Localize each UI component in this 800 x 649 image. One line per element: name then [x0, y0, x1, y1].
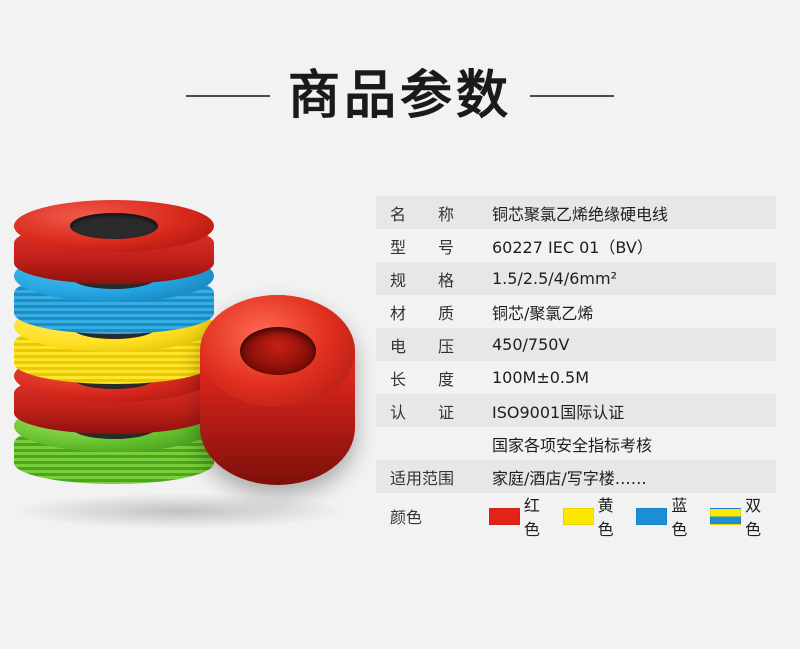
- spec-label: 长 度: [376, 366, 492, 390]
- spec-value: ISO9001国际认证: [492, 399, 776, 423]
- coil-red-top: [14, 200, 214, 286]
- swatch-item-red: 红色: [489, 492, 555, 540]
- coil-front-red: [200, 295, 360, 505]
- color-swatches: 红色 黄色 蓝色 双色: [489, 492, 776, 540]
- coil-stack: [14, 200, 224, 490]
- page-root: 商品参数: [0, 0, 800, 649]
- swatch-label: 红色: [524, 492, 555, 540]
- table-row: 名 称 铜芯聚氯乙烯绝缘硬电线: [376, 196, 776, 229]
- spec-value: 450/750V: [492, 335, 776, 354]
- swatch-item-dual: 双色: [710, 492, 776, 540]
- spec-label: 适用范围: [376, 465, 492, 489]
- spec-label: 认 证: [376, 399, 492, 423]
- photo-shadow: [10, 493, 350, 529]
- red-swatch-icon: [489, 508, 520, 525]
- table-row: 认 证 ISO9001国际认证: [376, 394, 776, 427]
- page-title: 商品参数: [288, 70, 512, 122]
- dual-swatch-icon: [710, 508, 741, 525]
- product-photo: [0, 175, 360, 575]
- spec-table: 名 称 铜芯聚氯乙烯绝缘硬电线 型 号 60227 IEC 01（BV） 规 格…: [376, 196, 776, 535]
- spec-value: 100M±0.5M: [492, 368, 776, 387]
- table-row: 长 度 100M±0.5M: [376, 361, 776, 394]
- spec-value: 国家各项安全指标考核: [492, 432, 776, 456]
- title-rule-left: [186, 95, 270, 97]
- yellow-swatch-icon: [563, 508, 594, 525]
- table-row: 国家各项安全指标考核: [376, 427, 776, 460]
- table-row: 电 压 450/750V: [376, 328, 776, 361]
- spec-label: 名 称: [376, 201, 492, 225]
- swatch-item-yellow: 黄色: [563, 492, 629, 540]
- title-rule-right: [530, 95, 614, 97]
- swatch-label: 黄色: [598, 492, 629, 540]
- table-row: 规 格 1.5/2.5/4/6mm²: [376, 262, 776, 295]
- spec-value: 铜芯聚氯乙烯绝缘硬电线: [492, 201, 776, 225]
- spec-label: 型 号: [376, 234, 492, 258]
- spec-label: 电 压: [376, 333, 492, 357]
- color-legend-row: 颜色 红色 黄色 蓝色 双色: [376, 497, 776, 535]
- swatch-item-blue: 蓝色: [636, 492, 702, 540]
- table-row: 适用范围 家庭/酒店/写字楼……: [376, 460, 776, 493]
- spec-label: 规 格: [376, 267, 492, 291]
- color-legend-label: 颜色: [376, 504, 489, 528]
- spec-value: 60227 IEC 01（BV）: [492, 234, 776, 258]
- page-title-block: 商品参数: [0, 56, 800, 136]
- table-row: 型 号 60227 IEC 01（BV）: [376, 229, 776, 262]
- spec-value: 家庭/酒店/写字楼……: [492, 465, 776, 489]
- spec-label: 材 质: [376, 300, 492, 324]
- table-row: 材 质 铜芯/聚氯乙烯: [376, 295, 776, 328]
- blue-swatch-icon: [636, 508, 667, 525]
- swatch-label: 蓝色: [671, 492, 702, 540]
- spec-value: 1.5/2.5/4/6mm²: [492, 269, 776, 288]
- spec-value: 铜芯/聚氯乙烯: [492, 300, 776, 324]
- swatch-label: 双色: [745, 492, 776, 540]
